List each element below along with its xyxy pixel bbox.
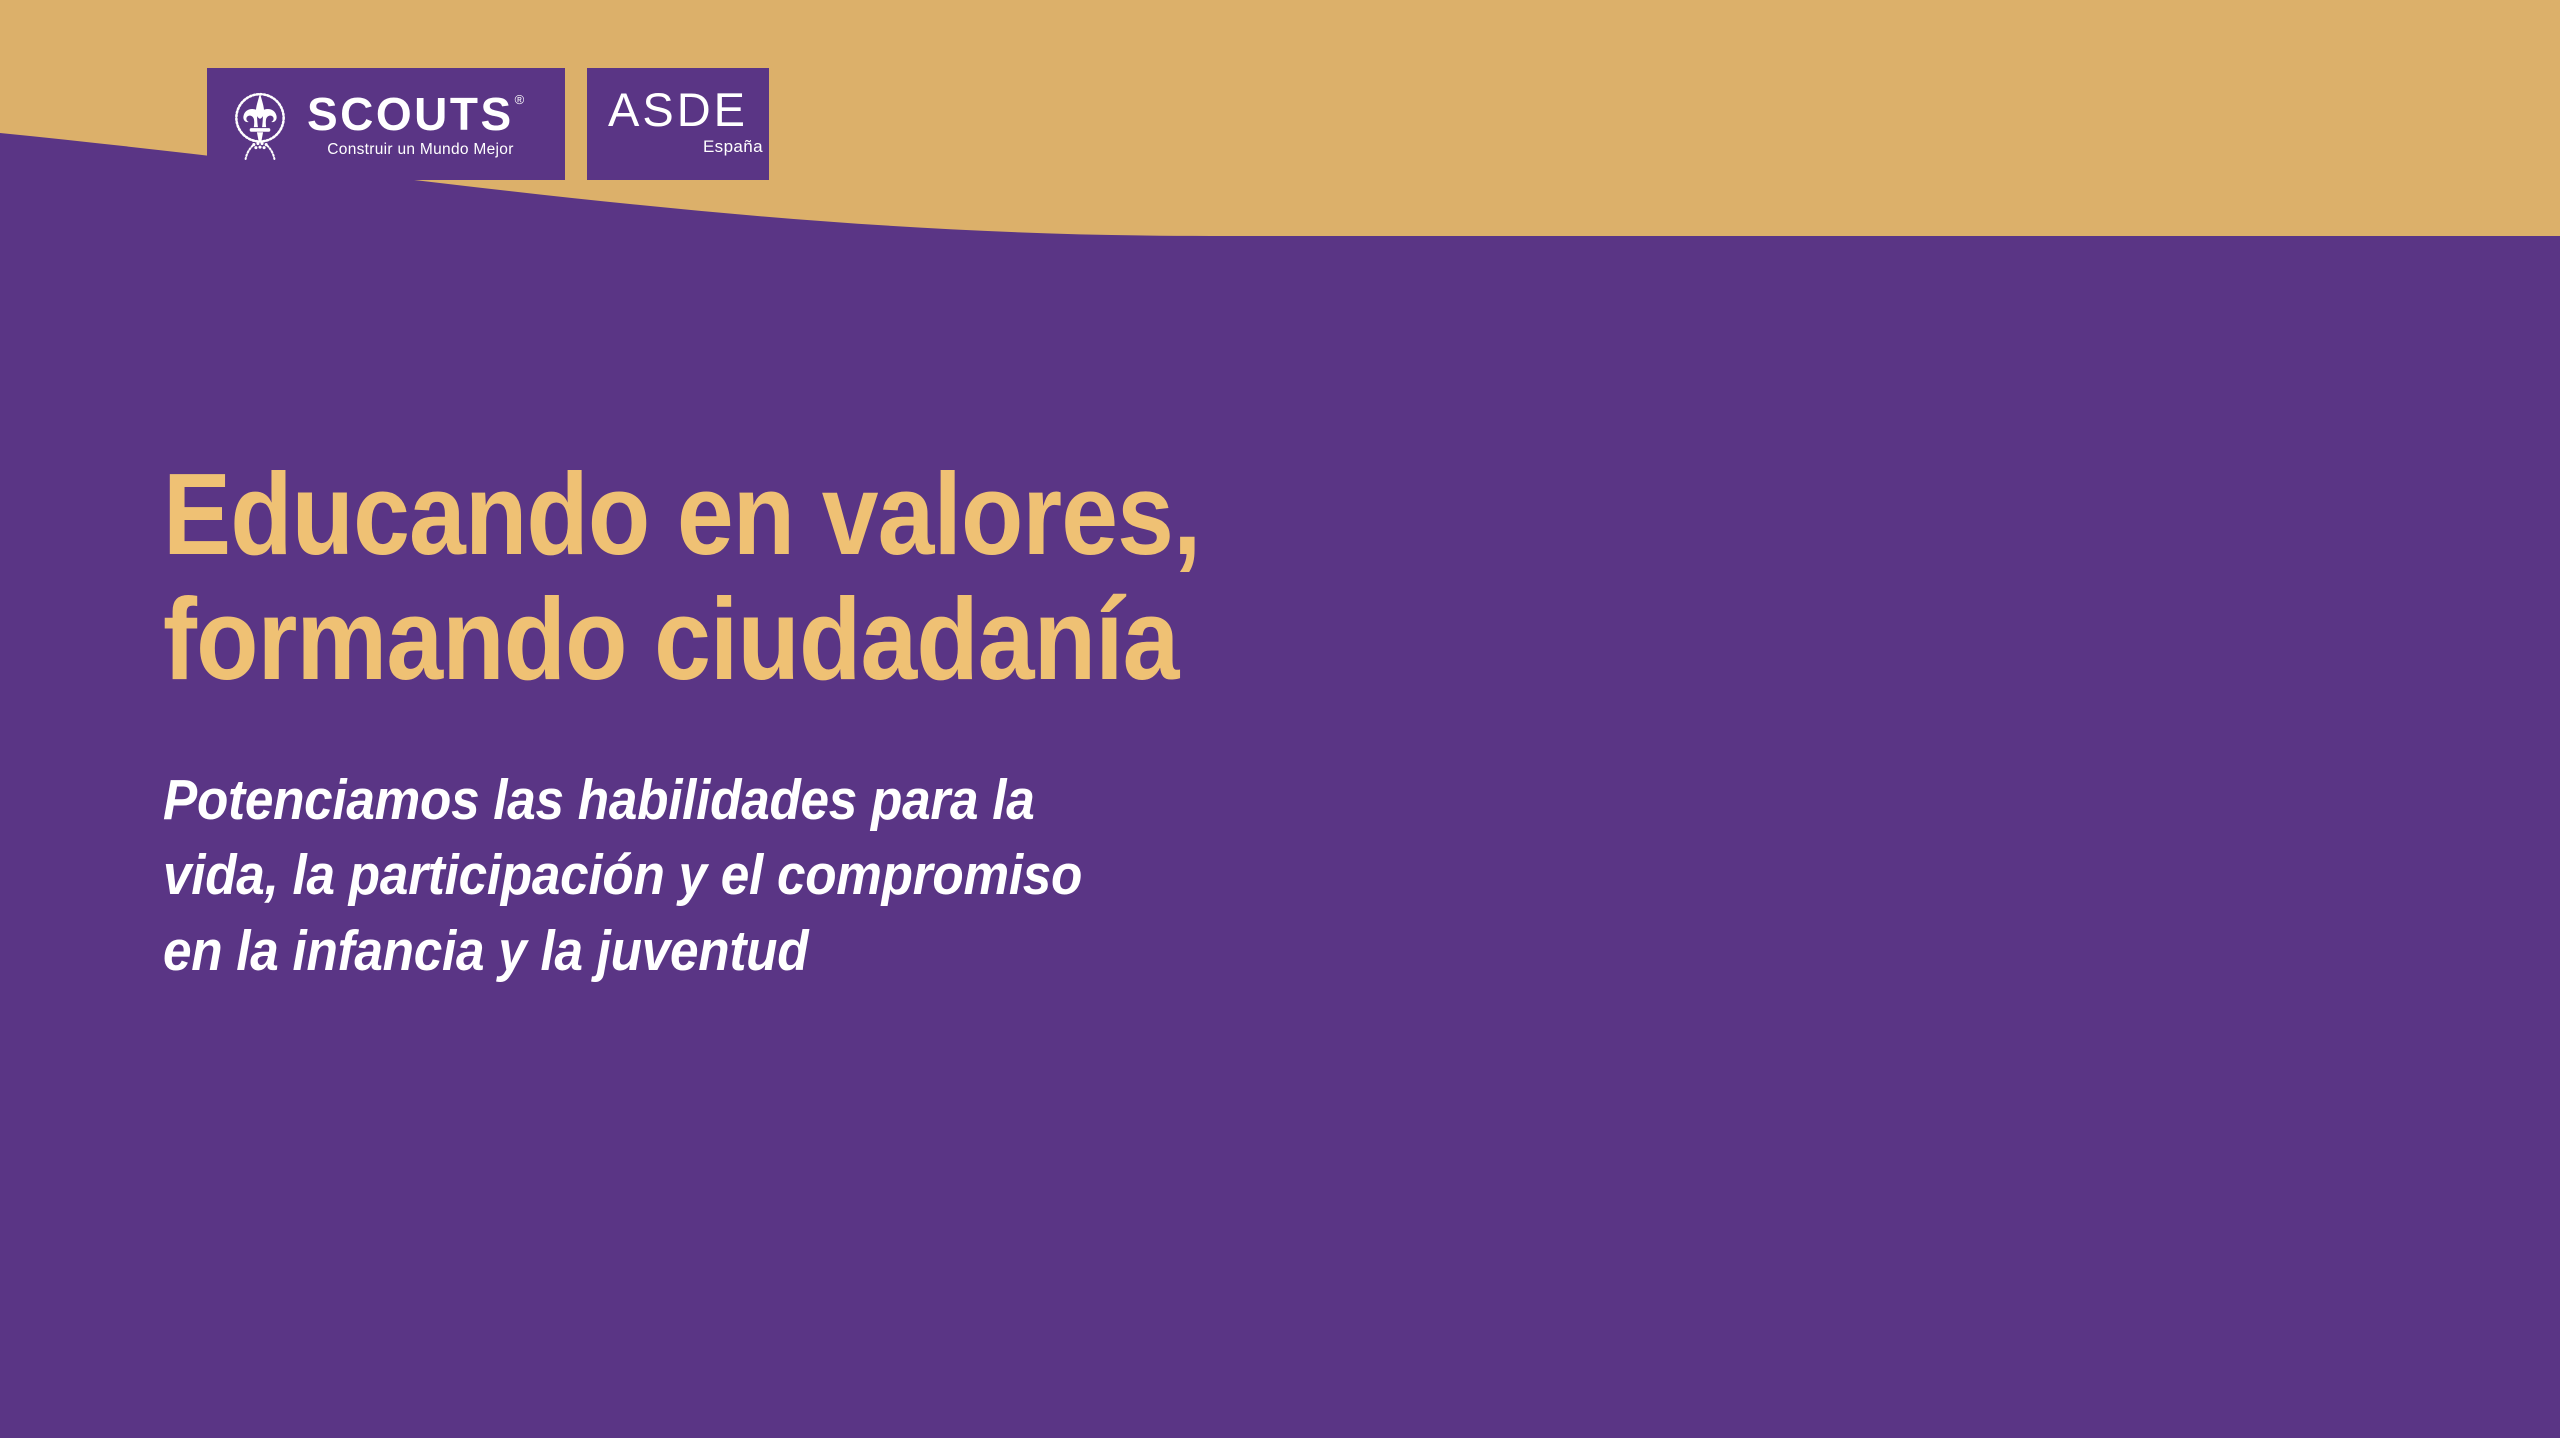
registered-mark-icon: ® — [515, 93, 527, 106]
logo-lockup: SCOUTS® Construir un Mundo Mejor ASDE Es… — [207, 68, 769, 180]
asde-subtitle: España — [703, 137, 763, 157]
asde-wordmark: ASDE — [608, 87, 748, 132]
scouts-tagline: Construir un Mundo Mejor — [327, 142, 513, 158]
fleur-de-lis-emblem — [229, 87, 291, 161]
banner-canvas: SCOUTS® Construir un Mundo Mejor ASDE Es… — [0, 0, 2560, 1438]
scouts-logo[interactable]: SCOUTS® Construir un Mundo Mejor — [207, 68, 565, 180]
page-subtitle: Potenciamos las habilidades para la vida… — [163, 763, 1225, 990]
scouts-wordmark-group: SCOUTS® Construir un Mundo Mejor — [307, 91, 514, 158]
page-title: Educando en valores, formando ciudadanía — [163, 452, 1201, 703]
asde-logo[interactable]: ASDE España — [587, 68, 769, 180]
copy-block: Educando en valores, formando ciudadanía… — [163, 452, 1343, 990]
scouts-wordmark: SCOUTS® — [307, 91, 514, 137]
